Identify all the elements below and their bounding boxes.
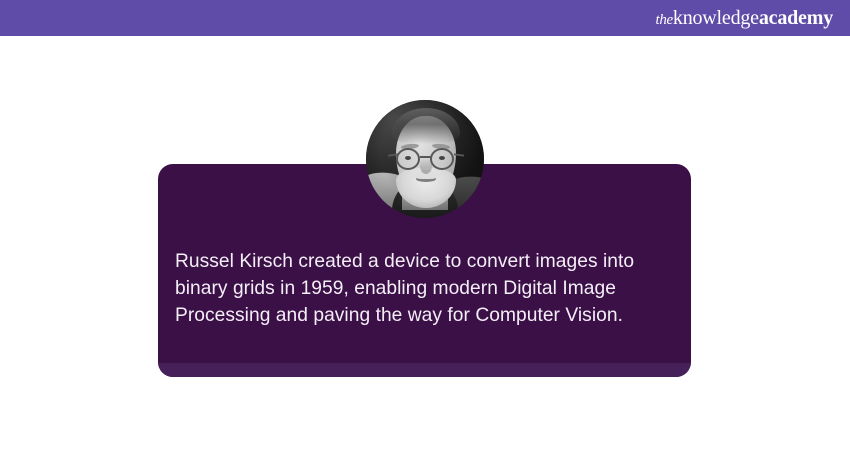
header-band: theknowledgeacademy	[0, 0, 850, 36]
brand-logo-knowledge: knowledge	[673, 7, 759, 29]
portrait-vignette	[366, 100, 484, 218]
portrait-photo-russel-kirsch	[366, 100, 484, 218]
card-footer-strip	[158, 363, 691, 377]
brand-logo: theknowledgeacademy	[655, 8, 833, 28]
portrait-avatar	[366, 100, 484, 218]
brand-logo-academy: academy	[759, 7, 833, 29]
card-body-text: Russel Kirsch created a device to conver…	[175, 248, 675, 329]
brand-logo-the: the	[655, 12, 672, 28]
page-canvas: theknowledgeacademy	[0, 0, 850, 450]
